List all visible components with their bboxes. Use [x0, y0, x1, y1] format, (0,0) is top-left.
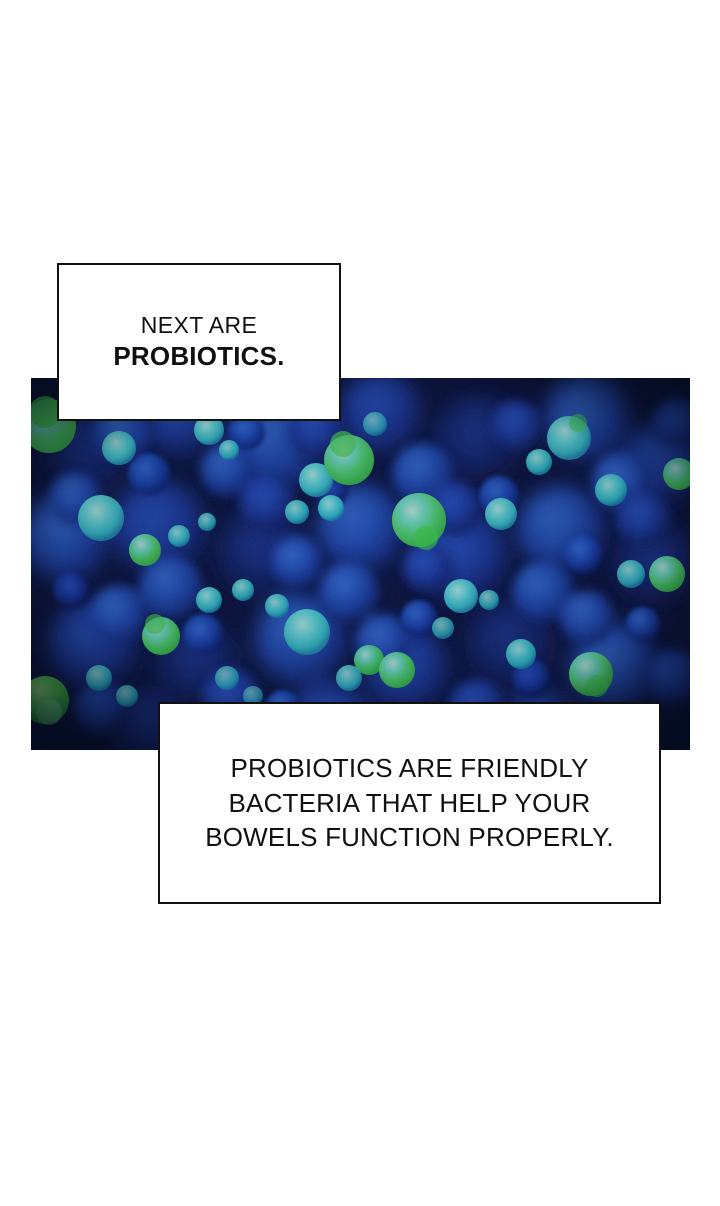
caption-bottom-line-2: BACTERIA THAT HELP YOUR [229, 786, 591, 821]
probiotic-bacteria-microscopy-photo [31, 378, 690, 750]
caption-top-line-2: PROBIOTICS. [113, 340, 284, 373]
caption-bottom-line-3: BOWELS FUNCTION PROPERLY. [205, 820, 614, 855]
caption-top-line-1: NEXT ARE [141, 311, 258, 340]
comic-panel-page: NEXT ARE PROBIOTICS. PROBIOTICS ARE FRIE… [0, 0, 720, 1206]
photo-artwork [31, 378, 690, 750]
caption-box-bottom: PROBIOTICS ARE FRIENDLY BACTERIA THAT HE… [158, 702, 661, 904]
caption-box-top: NEXT ARE PROBIOTICS. [57, 263, 341, 421]
caption-bottom-line-1: PROBIOTICS ARE FRIENDLY [230, 751, 588, 786]
